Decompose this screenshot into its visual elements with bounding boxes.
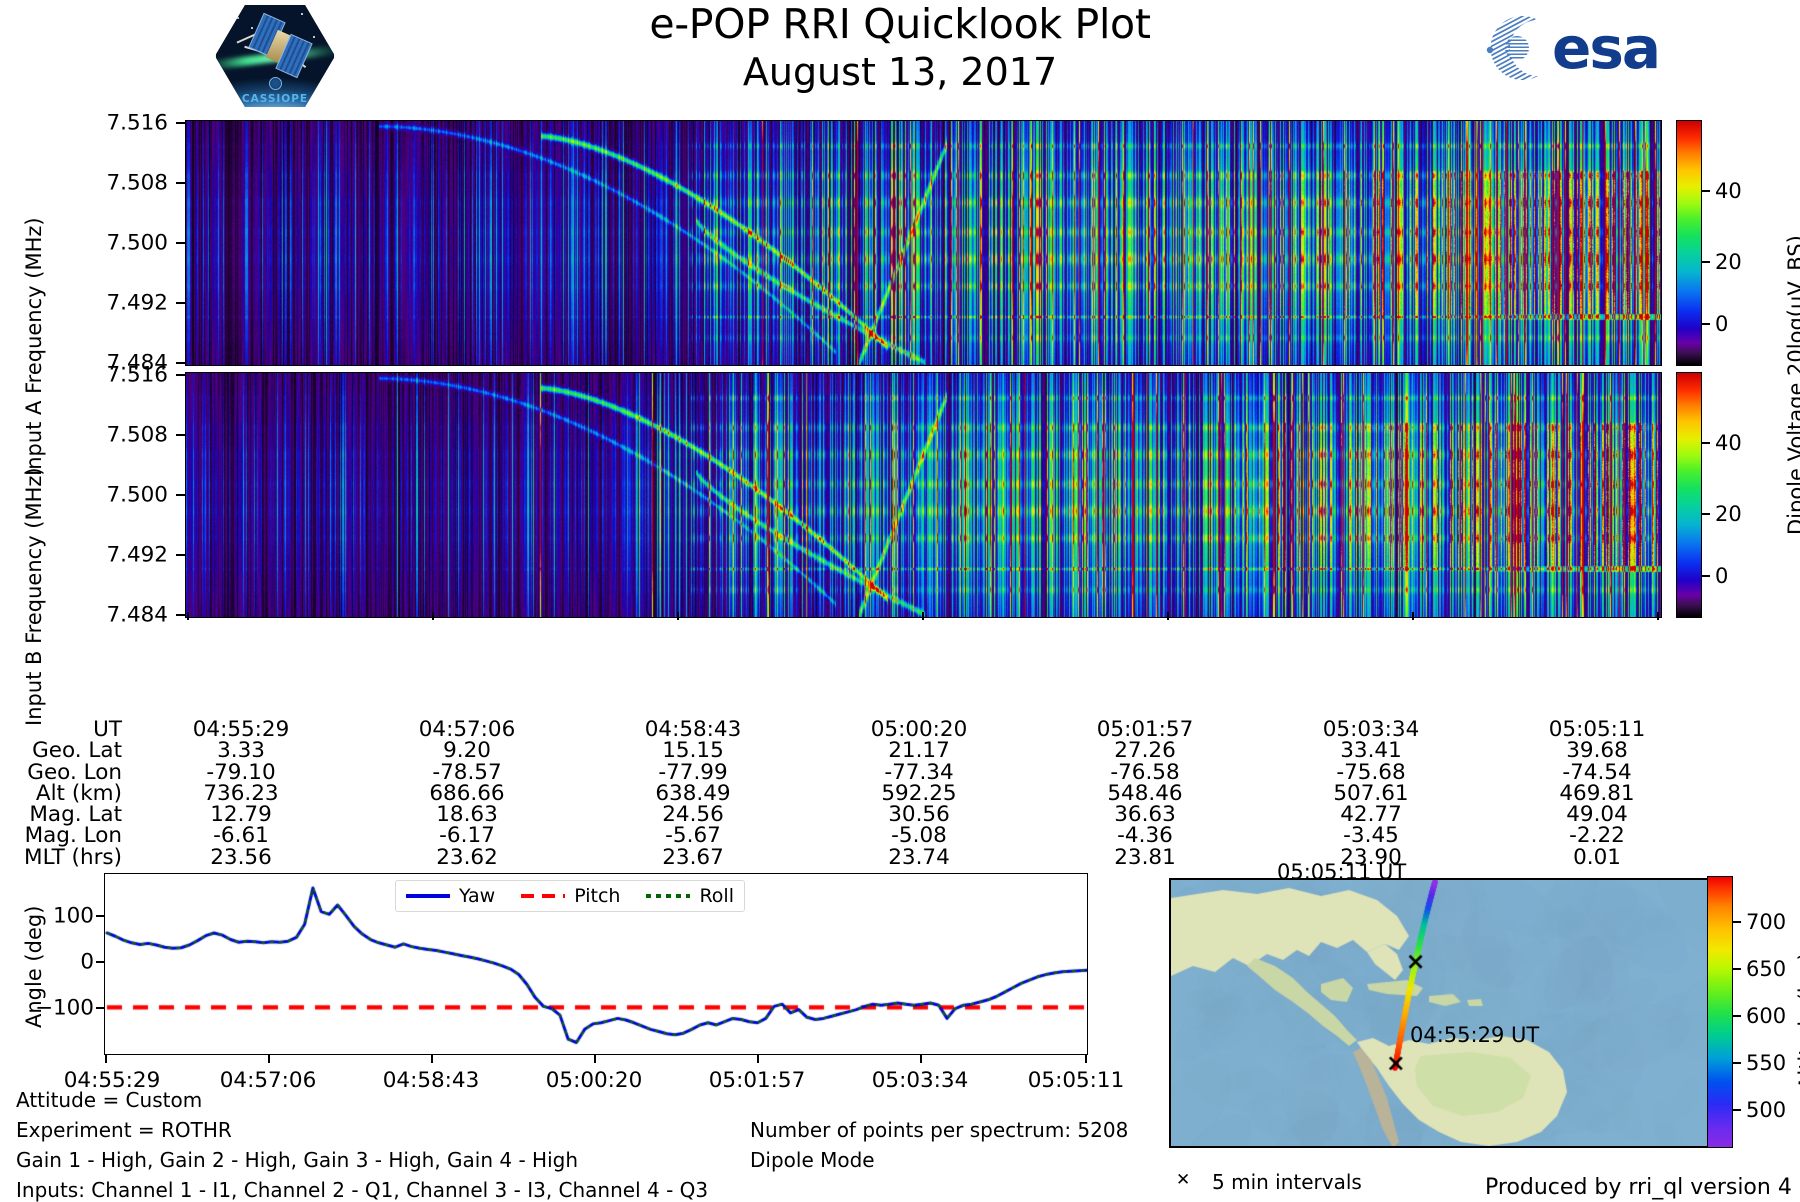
altitude-tick-650: 650 [1746, 957, 1786, 981]
map-end-time-label: 05:05:11 UT [1277, 860, 1406, 884]
footer-points-per-spectrum: Number of points per spectrum: 5208 [750, 1118, 1128, 1142]
input-a-colorbar-tick-0: 0 [1715, 312, 1728, 336]
ephem-label-mag-lat: Mag. Lat [0, 804, 128, 825]
ephem-geolon-0: -79.10 [128, 762, 354, 783]
pitch-line-swatch [521, 894, 565, 899]
map-start-time-label: 04:55:29 UT [1410, 1023, 1539, 1047]
attitude-xtick-1: 04:57:06 [220, 1068, 317, 1093]
ephem-ut-2: 04:58:43 [580, 719, 806, 740]
input-b-ytick-0: 7.516 [48, 363, 168, 388]
input-a-colorbar [1676, 120, 1702, 366]
ephem-maglon-1: -6.17 [354, 825, 580, 846]
table-row-mlt: MLT (hrs) 23.56 23.62 23.67 23.74 23.81 … [0, 847, 1710, 868]
ephem-geolon-2: -77.99 [580, 762, 806, 783]
ephem-maglon-3: -5.08 [806, 825, 1032, 846]
ephem-ut-5: 05:03:34 [1258, 719, 1484, 740]
input-a-colorbar-tick-40: 40 [1715, 179, 1742, 203]
attitude-legend: Yaw Pitch Roll [395, 880, 745, 912]
ephem-maglon-4: -4.36 [1032, 825, 1258, 846]
legend-item-roll: Roll [646, 885, 734, 907]
ephem-label-alt: Alt (km) [0, 783, 128, 804]
input-a-panel: Input A Frequency (MHz) 7.516 7.508 7.50… [0, 118, 1800, 368]
attitude-xtick-3: 05:00:20 [546, 1068, 643, 1093]
legend-label-pitch: Pitch [574, 885, 620, 907]
ephem-geolon-1: -78.57 [354, 762, 580, 783]
altitude-tick-600: 600 [1746, 1004, 1786, 1028]
attitude-plot[interactable]: Yaw Pitch Roll [104, 873, 1088, 1055]
input-b-ytick-1: 7.508 [48, 423, 168, 448]
ephem-geolat-6: 39.68 [1484, 740, 1710, 761]
table-row-geo-lat: Geo. Lat 3.33 9.20 15.15 21.17 27.26 33.… [0, 740, 1710, 761]
legend-item-yaw: Yaw [406, 885, 495, 907]
input-b-colorbar-tick-20: 20 [1715, 502, 1742, 526]
input-b-ylabel: Input B Frequency (MHz) [22, 467, 46, 726]
input-b-colorbar-tick-40: 40 [1715, 431, 1742, 455]
ephemeris-table: UT 04:55:29 04:57:06 04:58:43 05:00:20 0… [0, 719, 1710, 868]
table-row-geo-lon: Geo. Lon -79.10 -78.57 -77.99 -77.34 -76… [0, 762, 1710, 783]
ephem-maglon-2: -5.67 [580, 825, 806, 846]
table-row-mag-lat: Mag. Lat 12.79 18.63 24.56 30.56 36.63 4… [0, 804, 1710, 825]
attitude-ytick-0: 0 [0, 950, 94, 975]
table-row-mag-lon: Mag. Lon -6.61 -6.17 -5.67 -5.08 -4.36 -… [0, 825, 1710, 846]
ephem-geolat-0: 3.33 [128, 740, 354, 761]
esa-logo-text: esa [1552, 16, 1659, 80]
ephem-mlt-0: 23.56 [128, 847, 354, 868]
ephem-alt-3: 592.25 [806, 783, 1032, 804]
altitude-colorbar [1707, 876, 1733, 1148]
ephem-geolon-5: -75.68 [1258, 762, 1484, 783]
input-b-spectrogram[interactable] [185, 372, 1662, 618]
altitude-tick-500: 500 [1746, 1098, 1786, 1122]
attitude-xtick-2: 04:58:43 [383, 1068, 480, 1093]
ephem-ut-4: 05:01:57 [1032, 719, 1258, 740]
altitude-tick-700: 700 [1746, 910, 1786, 934]
ephem-maglat-6: 49.04 [1484, 804, 1710, 825]
legend-label-roll: Roll [699, 885, 734, 907]
ephem-mlt-2: 23.67 [580, 847, 806, 868]
ephem-geolat-1: 9.20 [354, 740, 580, 761]
input-b-colorbar-tick-0: 0 [1715, 564, 1728, 588]
ephem-mlt-1: 23.62 [354, 847, 580, 868]
ephem-label-mag-lon: Mag. Lon [0, 825, 128, 846]
ephem-maglat-1: 18.63 [354, 804, 580, 825]
footer-produced-by: Produced by rri_ql version 4 [1485, 1175, 1792, 1200]
spectrogram-xticks [0, 612, 1800, 624]
attitude-xtick-4: 05:01:57 [709, 1068, 806, 1093]
input-a-ytick-3: 7.492 [48, 291, 168, 316]
attitude-ytick-100: 100 [0, 904, 94, 929]
ephem-alt-6: 469.81 [1484, 783, 1710, 804]
ephem-geolat-5: 33.41 [1258, 740, 1484, 761]
ephem-geolon-3: -77.34 [806, 762, 1032, 783]
ephem-alt-4: 548.46 [1032, 783, 1258, 804]
ephem-alt-2: 638.49 [580, 783, 806, 804]
input-b-colorbar [1676, 372, 1702, 618]
footer-inputs: Inputs: Channel 1 - I1, Channel 2 - Q1, … [16, 1178, 708, 1202]
ephem-mlt-3: 23.74 [806, 847, 1032, 868]
orbit-map[interactable] [1169, 878, 1709, 1148]
input-a-ytick-1: 7.508 [48, 171, 168, 196]
ephem-maglat-5: 42.77 [1258, 804, 1484, 825]
footer-experiment: Experiment = ROTHR [16, 1118, 232, 1142]
ephem-alt-0: 736.23 [128, 783, 354, 804]
map-marker-glyph: ✕ [1176, 1170, 1190, 1190]
footer-gains: Gain 1 - High, Gain 2 - High, Gain 3 - H… [16, 1148, 578, 1172]
ephem-label-ut: UT [0, 719, 128, 740]
table-row-ut: UT 04:55:29 04:57:06 04:58:43 05:00:20 0… [0, 719, 1710, 740]
ephem-label-geo-lon: Geo. Lon [0, 762, 128, 783]
ephem-geolat-4: 27.26 [1032, 740, 1258, 761]
altitude-tick-550: 550 [1746, 1051, 1786, 1075]
ephem-geolon-6: -74.54 [1484, 762, 1710, 783]
ephem-ut-1: 04:57:06 [354, 719, 580, 740]
input-a-colorbar-tick-20: 20 [1715, 250, 1742, 274]
attitude-ytick-neg100: −100 [0, 996, 94, 1021]
input-b-ytick-2: 7.500 [48, 483, 168, 508]
ephem-geolat-2: 15.15 [580, 740, 806, 761]
ephem-mlt-4: 23.81 [1032, 847, 1258, 868]
legend-item-pitch: Pitch [521, 885, 620, 907]
input-a-spectrogram[interactable] [185, 120, 1662, 366]
ephem-label-mlt: MLT (hrs) [0, 847, 128, 868]
ephem-mlt-6: 0.01 [1484, 847, 1710, 868]
ephem-geolat-3: 21.17 [806, 740, 1032, 761]
ephem-alt-1: 686.66 [354, 783, 580, 804]
ephem-ut-3: 05:00:20 [806, 719, 1032, 740]
ephem-maglat-0: 12.79 [128, 804, 354, 825]
esa-logo: esa [1476, 12, 1708, 84]
attitude-xtick-6: 05:05:11 [1028, 1068, 1125, 1093]
ephem-maglon-0: -6.61 [128, 825, 354, 846]
altitude-colorbar-title: Altitude (km) [1795, 952, 1800, 1090]
ephem-maglat-4: 36.63 [1032, 804, 1258, 825]
table-row-alt: Alt (km) 736.23 686.66 638.49 592.25 548… [0, 783, 1710, 804]
esa-swirl-icon [1476, 14, 1548, 82]
ephem-label-geo-lat: Geo. Lat [0, 740, 128, 761]
input-b-ytick-3: 7.492 [48, 543, 168, 568]
ephem-alt-5: 507.61 [1258, 783, 1484, 804]
input-a-ytick-0: 7.516 [48, 111, 168, 136]
ephem-geolon-4: -76.58 [1032, 762, 1258, 783]
attitude-xtick-5: 05:03:34 [872, 1068, 969, 1093]
ephem-maglat-3: 30.56 [806, 804, 1032, 825]
cassiope-logo-text: CASSIOPE [216, 93, 334, 105]
ephem-ut-6: 05:05:11 [1484, 719, 1710, 740]
roll-line-swatch [646, 894, 690, 899]
ephem-ut-0: 04:55:29 [128, 719, 354, 740]
map-marker-legend-label: 5 min intervals [1212, 1170, 1362, 1194]
input-a-ytick-2: 7.500 [48, 231, 168, 256]
yaw-line-swatch [406, 894, 450, 898]
footer-attitude: Attitude = Custom [16, 1088, 202, 1112]
ephem-maglon-5: -3.45 [1258, 825, 1484, 846]
input-b-panel: Input B Frequency (MHz) 7.516 7.508 7.50… [0, 370, 1800, 620]
legend-label-yaw: Yaw [459, 885, 495, 907]
ephem-maglon-6: -2.22 [1484, 825, 1710, 846]
ephem-maglat-2: 24.56 [580, 804, 806, 825]
footer-dipole-mode: Dipole Mode [750, 1148, 875, 1172]
